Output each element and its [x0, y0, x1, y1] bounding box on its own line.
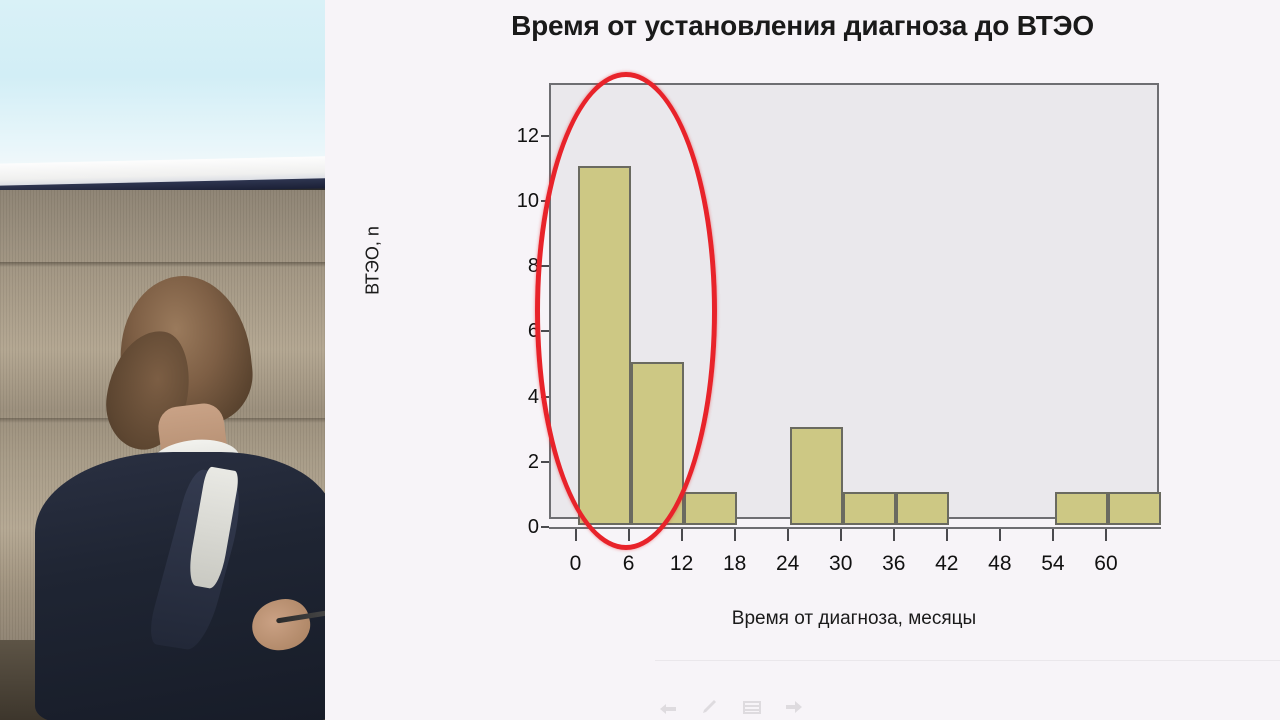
x-axis-title: Время от диагноза, месяцы — [549, 608, 1159, 630]
wall-seam-upper — [0, 262, 325, 267]
x-tick-label: 6 — [609, 552, 649, 576]
histogram-bar — [843, 492, 896, 525]
y-tick-label: 8 — [503, 255, 539, 278]
y-tick-label: 2 — [503, 451, 539, 474]
x-tick-label: 60 — [1086, 552, 1126, 576]
histogram-bar — [1055, 492, 1108, 525]
histogram-bar — [790, 427, 843, 525]
x-tick-label: 42 — [927, 552, 967, 576]
y-tick-mark — [541, 135, 549, 137]
undo-icon[interactable] — [657, 697, 679, 717]
pen-icon[interactable] — [699, 697, 721, 717]
x-tick-mark — [999, 529, 1001, 541]
x-tick-label: 18 — [715, 552, 755, 576]
slide-list-icon[interactable] — [741, 697, 763, 717]
y-tick-mark — [541, 461, 549, 463]
x-tick-label: 36 — [874, 552, 914, 576]
x-tick-mark — [787, 529, 789, 541]
x-tick-label: 0 — [556, 552, 596, 576]
y-tick-label: 0 — [503, 516, 539, 539]
x-tick-label: 12 — [662, 552, 702, 576]
y-tick-label: 4 — [503, 386, 539, 409]
y-tick-label: 6 — [503, 320, 539, 343]
presentation-toolbar[interactable] — [657, 694, 1077, 720]
slide-panel: Время от установления диагноза до ВТЭО В… — [325, 0, 1280, 720]
x-tick-mark — [893, 529, 895, 541]
x-tick-label: 48 — [980, 552, 1020, 576]
video-feed-panel[interactable] — [0, 0, 325, 720]
histogram-bar — [896, 492, 949, 525]
slide-divider — [655, 660, 1280, 661]
x-tick-mark — [1052, 529, 1054, 541]
x-tick-mark — [575, 529, 577, 541]
x-tick-mark — [734, 529, 736, 541]
y-axis-title: ВТЭО, n — [363, 191, 384, 331]
x-tick-mark — [681, 529, 683, 541]
pointer-icon[interactable] — [783, 697, 805, 717]
y-tick-label: 10 — [503, 190, 539, 213]
histogram-figure: ВТЭО, n 024681012 06121824303642485460 В… — [325, 0, 1280, 720]
y-tick-label: 12 — [503, 125, 539, 148]
red-ellipse-annotation — [535, 72, 717, 550]
x-tick-mark — [1105, 529, 1107, 541]
x-tick-label: 54 — [1033, 552, 1073, 576]
projection-screen-glow — [0, 0, 325, 170]
histogram-bar — [684, 492, 737, 525]
x-tick-label: 24 — [768, 552, 808, 576]
x-tick-label: 30 — [821, 552, 861, 576]
screenshot-root: Время от установления диагноза до ВТЭО В… — [0, 0, 1280, 720]
y-tick-mark — [541, 526, 549, 528]
histogram-bar — [1108, 492, 1161, 525]
x-tick-mark — [840, 529, 842, 541]
x-tick-mark — [946, 529, 948, 541]
